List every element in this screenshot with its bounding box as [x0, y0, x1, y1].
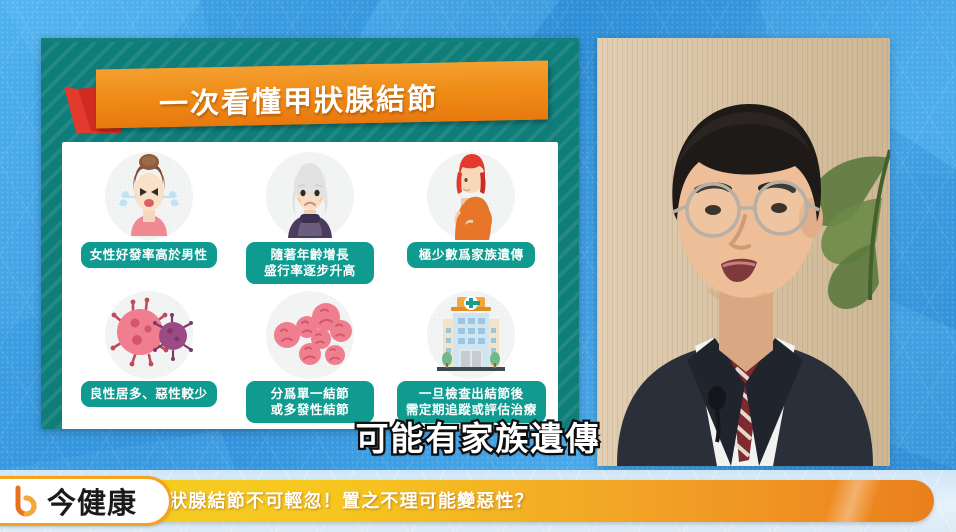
fact-label: 一旦檢查出結節後 需定期追蹤或評估治療	[397, 381, 546, 423]
icon-container	[256, 148, 364, 240]
fact-label: 極少數爲家族遺傳	[407, 242, 535, 268]
fact-cell: 隨著年齡增長 盛行率逐步升高	[231, 148, 388, 287]
cells-virus-icon	[99, 287, 199, 379]
logo-b-mark	[9, 484, 43, 518]
content-card: 女性好發率高於男性	[62, 142, 558, 429]
logo-label: 今健康	[47, 480, 137, 522]
elderly-woman-icon	[260, 148, 360, 240]
speaker-portrait	[597, 38, 890, 466]
fact-label: 隨著年齡增長 盛行率逐步升高	[246, 242, 374, 284]
nodule-cluster-icon	[260, 287, 360, 379]
speaker-video	[597, 38, 890, 466]
icon-container	[417, 287, 525, 379]
fact-cell: 分爲單一結節 或多發性結節	[231, 287, 388, 426]
icon-container	[95, 287, 203, 379]
fact-cell: 極少數爲家族遺傳	[393, 148, 550, 287]
fact-cell: 一旦檢查出結節後 需定期追蹤或評估治療	[393, 287, 550, 426]
fact-grid: 女性好發率高於男性	[62, 142, 558, 429]
channel-logo[interactable]: 今健康	[0, 476, 172, 526]
hospital-icon	[421, 287, 521, 379]
video-frame: 一次看懂甲狀腺結節	[0, 0, 956, 532]
icon-container	[256, 287, 364, 379]
angry-woman-icon	[99, 148, 199, 240]
fact-label: 良性居多、惡性較少	[81, 381, 217, 407]
slide-title: 一次看懂甲狀腺結節	[159, 73, 559, 123]
icon-container	[95, 148, 203, 240]
slide-top-edge	[41, 38, 579, 42]
title-ribbon: 一次看懂甲狀腺結節	[64, 63, 554, 133]
icon-container	[417, 148, 525, 240]
infographic-slide: 一次看懂甲狀腺結節	[41, 38, 579, 429]
fact-label: 女性好發率高於男性	[81, 242, 217, 268]
lower-third-bar: 甲狀腺結節不可輕忽！置之不理可能變惡性？ 今健康	[0, 470, 956, 532]
fact-cell: 女性好發率高於男性	[70, 148, 227, 287]
fact-label: 分爲單一結節 或多發性結節	[246, 381, 374, 423]
headline-text: 甲狀腺結節不可輕忽！置之不理可能變惡性？	[150, 487, 534, 513]
pregnant-woman-icon	[421, 148, 521, 240]
fact-cell: 良性居多、惡性較少	[70, 287, 227, 426]
